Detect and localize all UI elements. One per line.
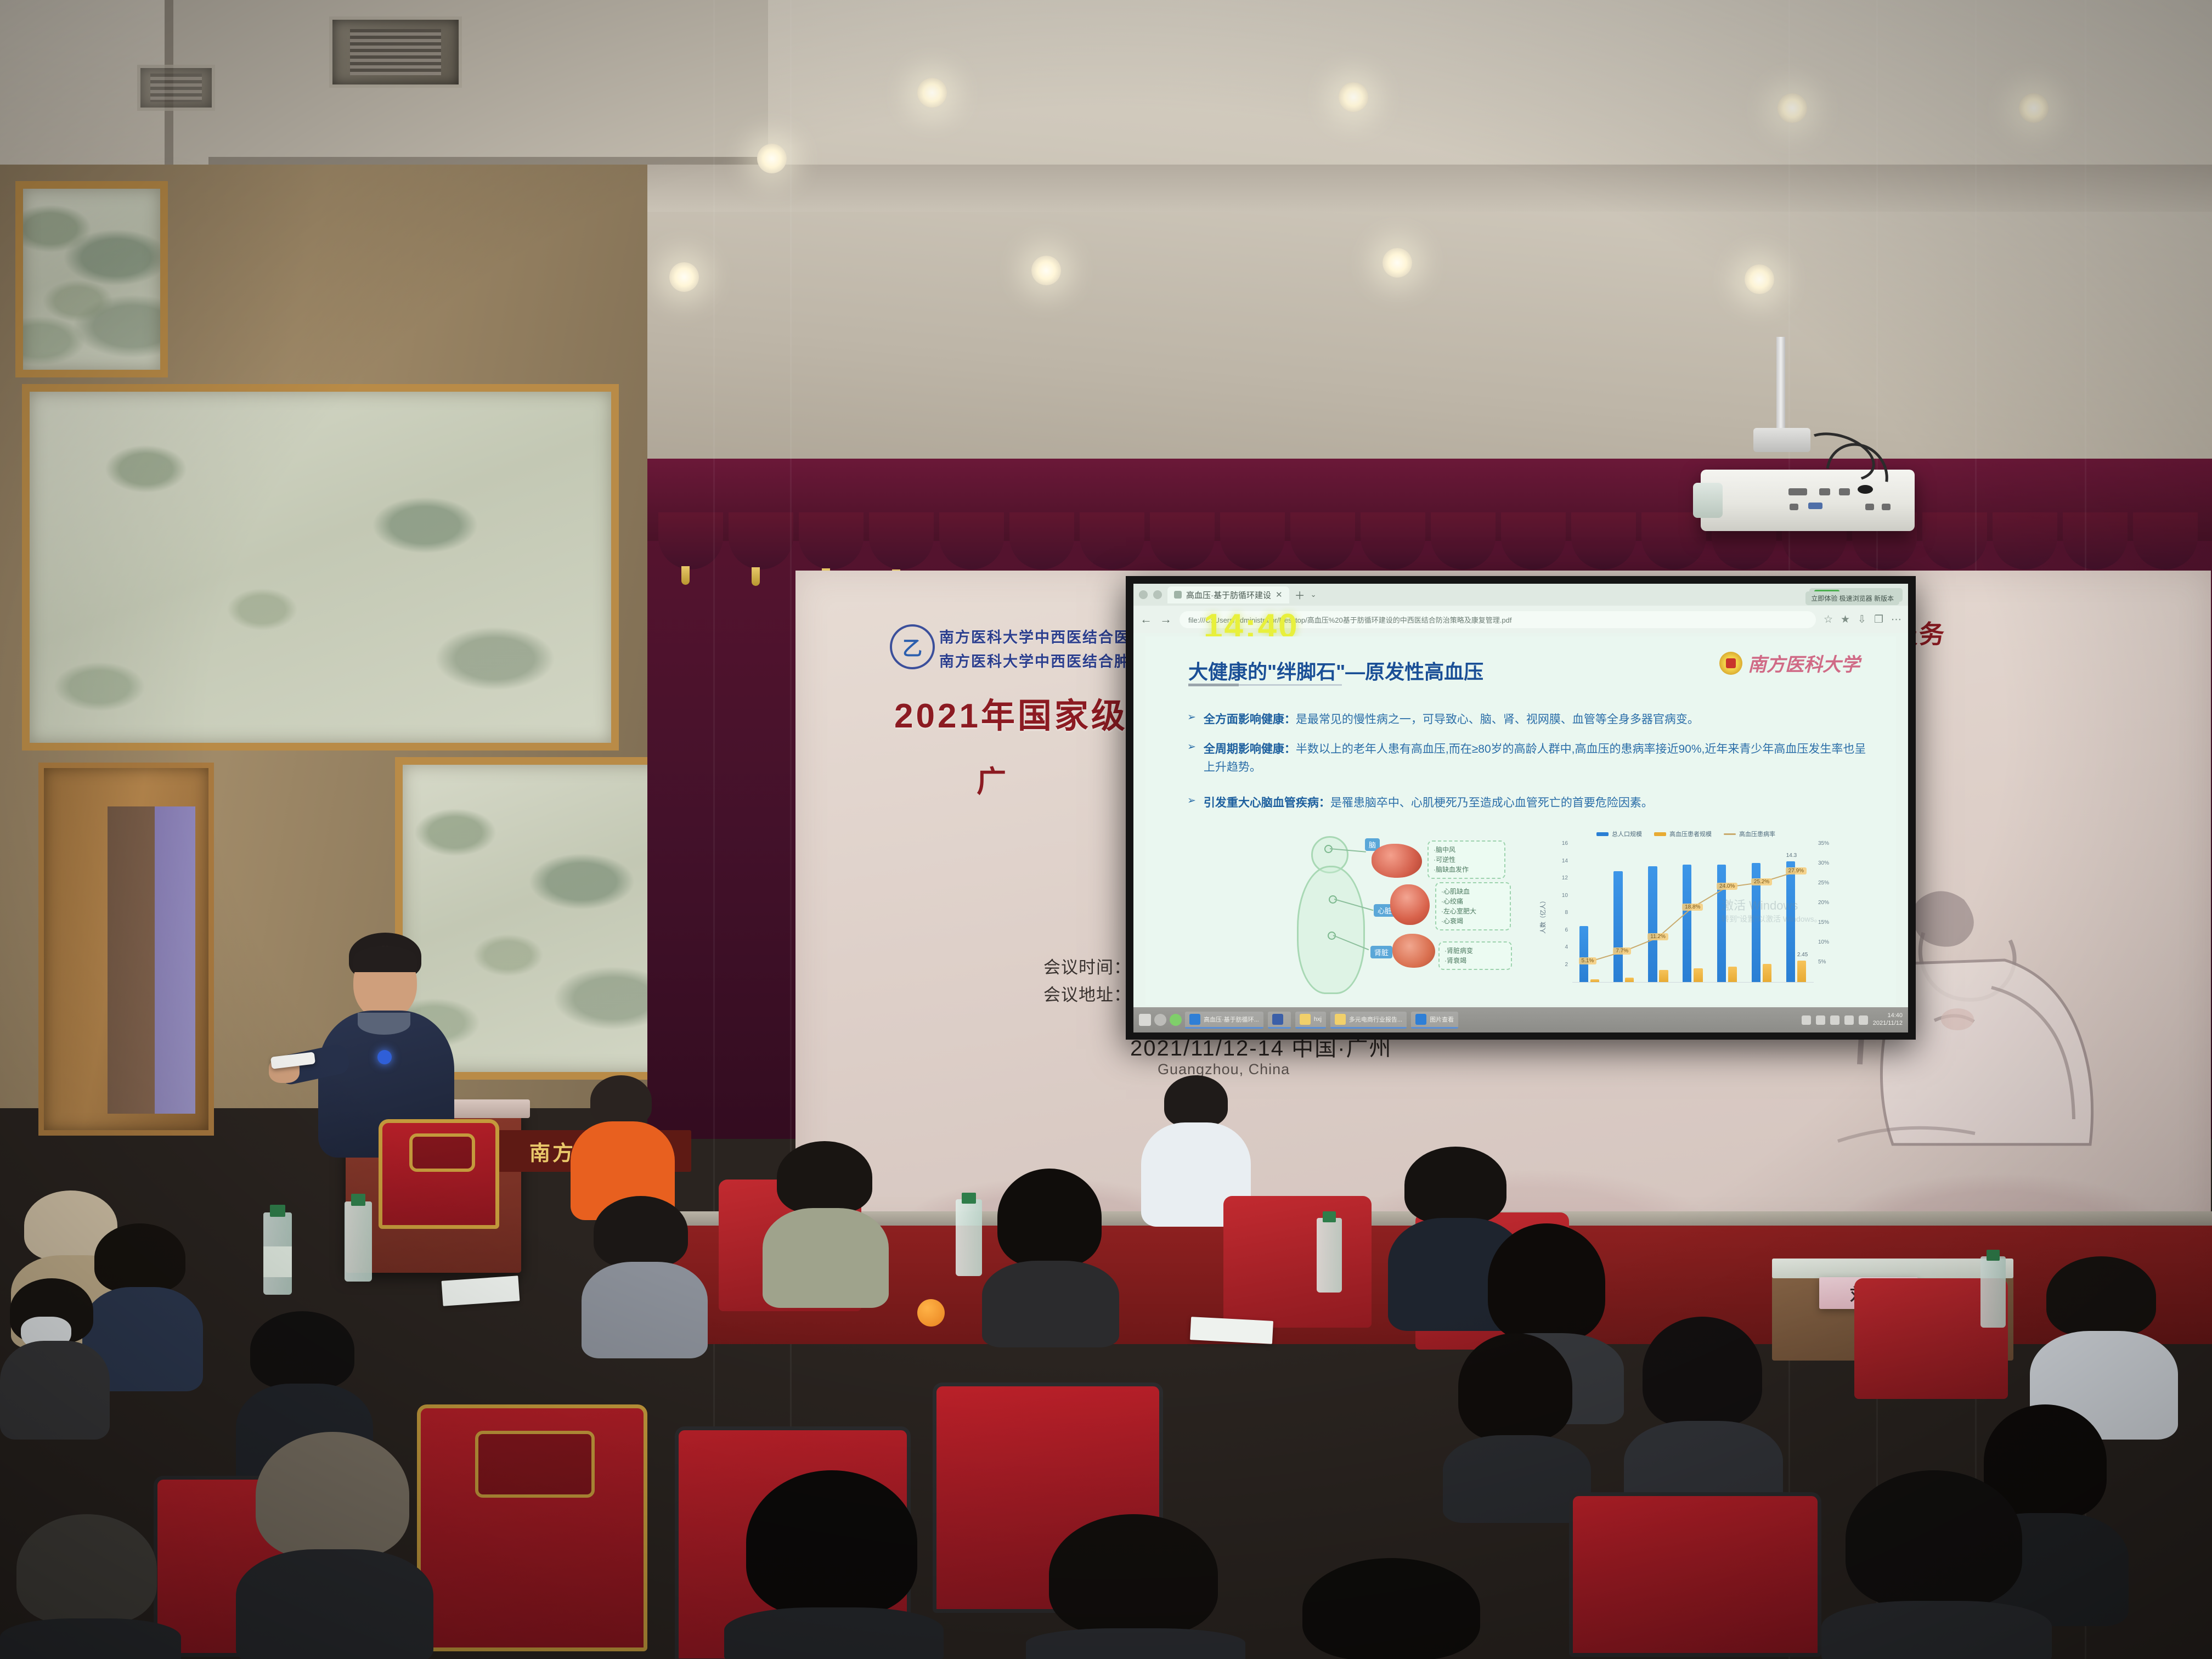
taskbar-app[interactable]: 图片查看	[1411, 1012, 1458, 1029]
air-vent-icon	[329, 16, 462, 88]
taskbar-app[interactable]	[1268, 1012, 1291, 1029]
chart-y-tick: 8	[1551, 910, 1568, 916]
clock-date: 2021/11/12	[1873, 1020, 1903, 1028]
ceiling-downlight	[1339, 82, 1368, 112]
bottle-label	[263, 1246, 292, 1277]
close-tab-icon[interactable]: ✕	[1276, 590, 1283, 600]
tab-favicon-icon	[1174, 591, 1182, 599]
document-papers[interactable]	[1190, 1317, 1273, 1344]
browser-promo-pill[interactable]: 立即体验 极速浏览器 新版本	[1805, 591, 1899, 605]
anatomy-callout-kidney: ·肾脏病变 ·肾衰竭	[1438, 941, 1512, 970]
chart-legend: 总人口规模高血压患者规模高血压患病率	[1596, 830, 1775, 838]
wall-panel-large	[22, 384, 619, 751]
callout-item: ·肾衰竭	[1444, 956, 1506, 966]
bullet-text: 全周期影响健康：半数以上的老年人患有高血压,而在≥80岁的高龄人群中,高血压的患…	[1204, 741, 1873, 776]
callout-item: ·心绞痛	[1441, 896, 1505, 906]
tab-title: 高血压·基于肪循环建设	[1186, 589, 1271, 601]
bullet-arrow-icon: ➢	[1187, 741, 1196, 776]
ceiling-downlight	[917, 78, 947, 108]
windows-watermark: 激活 Windows 转到"设置"以激活 Windows。	[1722, 898, 1822, 924]
body-outline	[1297, 866, 1365, 994]
legend-swatch	[1724, 833, 1736, 835]
orange-fruit	[917, 1299, 945, 1327]
chart-y-axis-label: 人数（亿人）	[1538, 898, 1547, 934]
speaker-badge	[377, 1050, 392, 1064]
hypertension-chart: 总人口规模高血压患者规模高血压患病率 人数（亿人） 5.1%7.7%11.2%1…	[1533, 830, 1873, 1003]
chart-y-tick: 10	[1551, 893, 1568, 899]
attendee-foreground	[1821, 1470, 2052, 1659]
chair[interactable]	[417, 1404, 647, 1659]
ceiling-downlight	[1031, 256, 1061, 285]
chart-data-label: 5.1%	[1579, 957, 1597, 964]
callout-item: ·肾脏病变	[1444, 946, 1506, 956]
university-logo: 南方医科大学	[1719, 650, 1860, 676]
bottle-cap	[270, 1205, 285, 1217]
legend-label: 高血压患病率	[1739, 830, 1775, 838]
door-leaf	[108, 806, 155, 1114]
attendee	[582, 1196, 708, 1355]
speaker-collar	[358, 1013, 410, 1035]
anatomy-callout-brain: ·脑中风 ·可逆性 ·脑缺血发作	[1427, 840, 1505, 879]
chart-y2-tick: 25%	[1818, 880, 1829, 886]
chevron-down-icon[interactable]: ⌄	[1311, 590, 1317, 599]
taskbar-app-label: hxj	[1314, 1016, 1322, 1023]
attendee	[982, 1169, 1119, 1344]
bottle-cap	[351, 1194, 365, 1206]
bullet-text: 引发重大心脑血管疾病：是罹患脑卒中、心肌梗死乃至造成心血管死亡的首要危险因素。	[1204, 794, 1653, 812]
system-tray[interactable]: 14:40 2021/11/12	[1802, 1012, 1903, 1028]
attendee	[1624, 1317, 1783, 1520]
anatomy-callout-heart: ·心肌缺血 ·心绞痛 ·左心室肥大 ·心衰竭	[1435, 882, 1511, 930]
backdrop-subtitle-left: 广	[977, 757, 1008, 800]
curtain-tassel	[681, 566, 690, 585]
chart-y-tick: 4	[1551, 944, 1568, 950]
start-button-icon[interactable]	[1139, 1014, 1151, 1026]
attendee-foreground	[236, 1432, 433, 1659]
bottle-cap	[1987, 1250, 2000, 1261]
bookmark-star-icon[interactable]: ☆	[1824, 613, 1833, 626]
watermark-line2: 转到"设置"以激活 Windows。	[1722, 914, 1822, 924]
taskbar-app-icon	[1335, 1014, 1346, 1025]
university-name: 南方医科大学	[1748, 650, 1860, 676]
chair[interactable]	[1569, 1492, 1821, 1659]
projection-screen[interactable]: 高血压·基于肪循环建设 ✕ ＋ ⌄ 已登录 账号中心·个人中心 ← → file…	[1133, 584, 1908, 1032]
watermark-line1: 激活 Windows	[1722, 898, 1822, 914]
ceiling-downlight	[757, 144, 787, 173]
attendee-foreground	[0, 1514, 181, 1659]
backdrop-org-line1: 南方医科大学中西医结合医院	[939, 625, 1146, 647]
chart-y-tick: 12	[1551, 875, 1568, 881]
taskbar-app-icon	[1415, 1014, 1426, 1025]
ceiling-downlight	[1778, 93, 1807, 123]
chart-data-label: 24.0%	[1717, 883, 1737, 890]
legend-label: 总人口规模	[1612, 830, 1642, 838]
ceiling-downlight	[1383, 248, 1412, 278]
air-vent-secondary-icon	[137, 65, 215, 111]
share-icon[interactable]: ⇩	[1858, 613, 1866, 626]
university-crest-icon	[1719, 652, 1742, 675]
browser-tab[interactable]: 高血压·基于肪循环建设 ✕	[1167, 586, 1289, 603]
document-papers[interactable]	[442, 1276, 520, 1306]
chart-y2-tick: 5%	[1818, 959, 1826, 965]
chart-value-annotation: 2.45	[1797, 952, 1808, 958]
back-icon[interactable]: ←	[1140, 612, 1152, 627]
ceiling-downlight	[2019, 93, 2049, 123]
bottle-cap	[962, 1193, 976, 1204]
chart-y-tick: 14	[1551, 858, 1568, 864]
curtain-valance	[647, 459, 2212, 541]
bullet-arrow-icon: ➢	[1187, 794, 1196, 812]
heart-organ-icon	[1390, 884, 1430, 925]
chair[interactable]	[1223, 1196, 1372, 1333]
show-hidden-icons[interactable]	[1816, 1015, 1825, 1025]
kidney-organ-icon	[1392, 934, 1435, 968]
ceiling-downlight	[1745, 264, 1774, 294]
chart-legend-item: 高血压患病率	[1724, 830, 1775, 838]
more-options-icon[interactable]: ⋯	[1891, 613, 1901, 626]
speaker-fringe	[353, 946, 417, 972]
callout-item: ·可逆性	[1434, 855, 1499, 865]
callout-item: ·左心室肥大	[1441, 906, 1505, 916]
forward-icon[interactable]: →	[1160, 612, 1172, 627]
water-bottle[interactable]	[956, 1199, 982, 1276]
attendee-foreground	[724, 1470, 944, 1659]
chart-y2-tick: 30%	[1818, 860, 1829, 866]
chart-value-annotation: 14.3	[1786, 853, 1797, 859]
taskbar-app-label: 图片查看	[1430, 1015, 1454, 1024]
browser-tab-bar[interactable]: 高血压·基于肪循环建设 ✕ ＋ ⌄ 已登录 账号中心·个人中心	[1133, 584, 1908, 606]
new-tab-icon[interactable]: ＋	[1295, 588, 1305, 602]
taskbar-app[interactable]: hxj	[1295, 1012, 1326, 1029]
attendee-foreground	[1278, 1558, 1509, 1659]
callout-item: ·脑中风	[1434, 845, 1499, 855]
anatomy-tag-kidney: 肾脏	[1370, 946, 1392, 958]
taskbar-app[interactable]: 高血压·基于肪循环...	[1185, 1012, 1263, 1029]
tray-icon[interactable]	[1802, 1015, 1811, 1025]
chart-data-label: 7.7%	[1613, 947, 1631, 955]
chart-data-label: 18.8%	[1682, 904, 1703, 911]
legend-label: 高血压患者规模	[1669, 830, 1712, 838]
browser-history-icon[interactable]	[1153, 590, 1162, 599]
chart-y2-tick: 35%	[1818, 840, 1829, 847]
callout-item: ·心肌缺血	[1441, 887, 1505, 896]
wall-panel	[15, 181, 168, 377]
network-icon[interactable]	[1844, 1015, 1854, 1025]
chart-y-tick: 6	[1551, 927, 1568, 933]
attendee	[763, 1141, 889, 1306]
search-icon[interactable]	[1154, 1014, 1166, 1026]
bullet-text: 全方面影响健康：是最常见的慢性病之一，可导致心、脑、肾、视网膜、血管等全身多器官…	[1204, 711, 1699, 729]
ceiling-shadow-line	[208, 157, 768, 165]
callout-item: ·脑缺血发作	[1434, 865, 1499, 874]
chart-data-label: 11.2%	[1647, 933, 1668, 940]
taskbar-app[interactable]: 多元电商行业报告...	[1330, 1012, 1407, 1029]
clock-time: 14:40	[1873, 1012, 1903, 1020]
ceiling-downlight	[669, 262, 699, 292]
water-bottle[interactable]	[1317, 1218, 1342, 1293]
taskbar-app-icon	[1300, 1014, 1311, 1025]
water-bottle[interactable]	[345, 1201, 372, 1282]
bottle-cap	[1323, 1211, 1336, 1222]
legend-swatch	[1596, 832, 1609, 836]
legend-swatch	[1654, 832, 1666, 836]
water-bottle[interactable]	[1980, 1256, 2006, 1328]
chart-y-tick: 2	[1551, 962, 1568, 968]
presentation-slide: 大健康的"绊脚石"—原发性高血压 南方医科大学 ➢ 全方面影响健康：是最常见的慢…	[1145, 636, 1896, 1005]
chart-legend-item: 总人口规模	[1596, 830, 1642, 838]
projector-pole	[1776, 337, 1785, 436]
taskbar-app-label: 高血压·基于肪循环...	[1204, 1015, 1259, 1024]
taskbar-app-label: 多元电商行业报告...	[1349, 1015, 1402, 1024]
table-cloth	[1772, 1259, 2013, 1278]
conference-room-photo: 乙 南方医科大学中西医结合医院 南方医科大学中西医结合肿瘤中心 2021年国家级…	[0, 0, 2212, 1659]
windows-taskbar[interactable]: 高血压·基于肪循环...hxj多元电商行业报告...图片查看 14:40 202…	[1133, 1007, 1908, 1032]
cortana-icon[interactable]	[1170, 1014, 1182, 1026]
chart-y-tick: 16	[1551, 840, 1568, 847]
brain-organ-icon	[1372, 844, 1422, 878]
attendee-foreground	[1026, 1514, 1245, 1659]
favorites-icon[interactable]: ★	[1841, 613, 1850, 626]
taskbar-app-icon	[1272, 1014, 1283, 1025]
hospital-logo-icon: 乙	[890, 624, 935, 669]
curtain-tassel	[752, 567, 760, 586]
bullet-arrow-icon: ➢	[1187, 711, 1196, 729]
attendee-masked	[0, 1278, 110, 1437]
chart-data-label: 25.2%	[1751, 878, 1772, 885]
ceiling-recess-left	[165, 0, 768, 165]
chair[interactable]	[379, 1119, 499, 1240]
cloud-icon[interactable]	[1830, 1015, 1839, 1025]
attendee	[1443, 1333, 1591, 1520]
callout-item: ·心衰竭	[1441, 916, 1505, 926]
slide-title: 大健康的"绊脚石"—原发性高血压	[1188, 656, 1483, 685]
chart-data-label: 27.9%	[1786, 867, 1807, 874]
window-icon[interactable]: ❐	[1874, 613, 1883, 626]
taskbar-app-icon	[1189, 1014, 1200, 1025]
taskbar-clock[interactable]: 14:40 2021/11/12	[1873, 1012, 1903, 1028]
browser-menu-icon[interactable]	[1139, 590, 1148, 599]
chart-legend-item: 高血压患者规模	[1654, 830, 1712, 838]
volume-icon[interactable]	[1859, 1015, 1868, 1025]
chart-y2-tick: 10%	[1818, 939, 1829, 945]
